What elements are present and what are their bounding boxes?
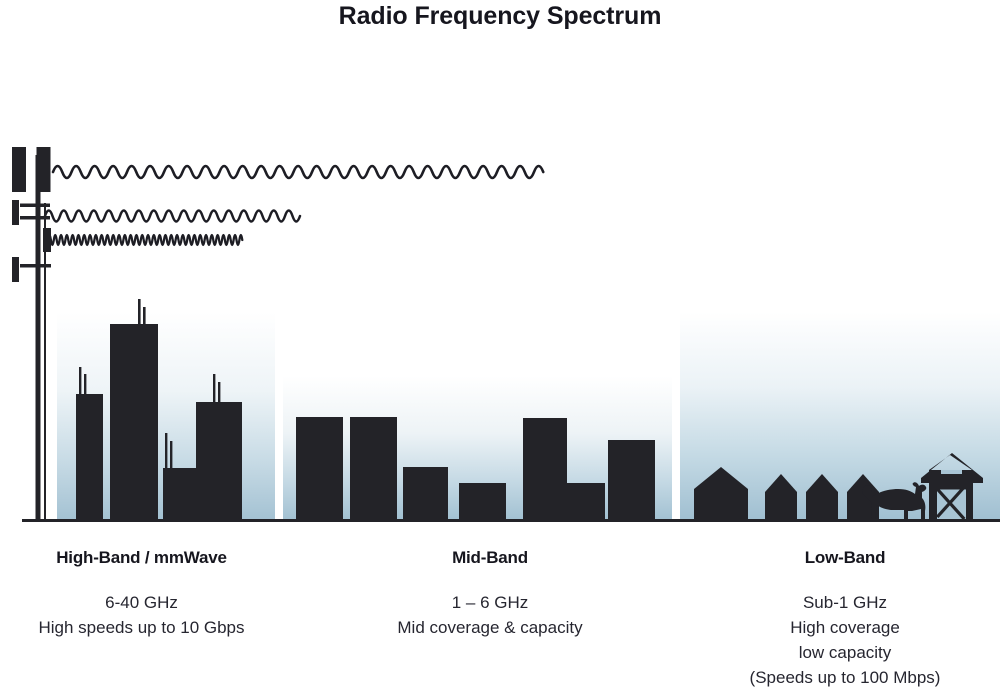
skyscraper-4-spire-b [218,382,220,404]
band-title-mid-band: Mid-Band [340,548,640,568]
skyscraper-4 [196,402,242,520]
tower-crossarm-lower [20,264,51,268]
skyscraper-1 [76,394,103,520]
band-frequency-high-band: 6-40 GHz [0,590,283,615]
midrise-building-4 [459,483,506,520]
skyscraper-4-spire-a [213,374,215,404]
band-description-mid-band-0: Mid coverage & capacity [340,615,640,640]
antenna-panel-upper-left [12,200,19,225]
infographic-canvas: Radio Frequency Spectrum [0,0,1000,700]
skyscraper-2-spire-a [138,299,141,327]
radio-waves [45,166,543,245]
midrise-building-1 [296,417,343,520]
band-description-low-band-0: High coverage [690,615,1000,640]
antenna-panel-top-right [37,147,51,192]
band-labels: High-Band / mmWave 6-40 GHz High speeds … [0,540,1000,700]
band-column-high-band: High-Band / mmWave 6-40 GHz High speeds … [0,540,283,640]
spectrum-illustration [0,0,1000,540]
skyscraper-3 [163,468,200,520]
wave-low-band-path [53,166,543,178]
ground-line [22,519,1000,522]
wave-mid-band-path [45,211,300,222]
band-column-mid-band: Mid-Band 1 – 6 GHz Mid coverage & capaci… [340,540,640,640]
band-details-low-band: Sub-1 GHz High coverage low capacity (Sp… [690,590,1000,691]
band-title-low-band: Low-Band [690,548,1000,568]
skyscraper-3-spire-a [165,433,167,470]
midrise-building-3 [403,467,448,520]
band-frequency-mid-band: 1 – 6 GHz [340,590,640,615]
band-frequency-low-band: Sub-1 GHz [690,590,1000,615]
antenna-panel-top-left [12,147,26,192]
midrise-building-5 [523,418,567,520]
tower-crossarm-upper [20,204,50,208]
skyscraper-2 [110,324,158,520]
antenna-panel-mid [43,228,51,252]
band-details-mid-band: 1 – 6 GHz Mid coverage & capacity [340,590,640,640]
band-title-high-band: High-Band / mmWave [0,548,283,568]
midrise-building-2 [350,417,397,520]
wave-high-band-path [48,235,242,245]
band-description-low-band-2: (Speeds up to 100 Mbps) [690,665,1000,690]
antenna-panel-lower-left [12,257,19,282]
band-description-high-band-0: High speeds up to 10 Gbps [0,615,283,640]
midrise-building-6 [567,483,605,520]
band-column-low-band: Low-Band Sub-1 GHz High coverage low cap… [690,540,1000,691]
band-description-low-band-1: low capacity [690,640,1000,665]
midrise-building-7 [608,440,655,520]
skyscraper-3-spire-b [170,441,172,470]
band-details-high-band: 6-40 GHz High speeds up to 10 Gbps [0,590,283,640]
tower-mast [36,155,41,521]
cell-tower [12,147,51,521]
barn-hayloft-window [941,470,962,474]
tower-crossarm-upper-2 [20,216,50,220]
